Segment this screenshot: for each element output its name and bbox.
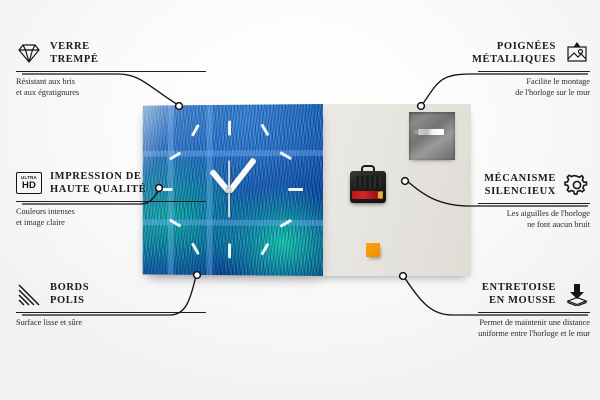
- mechanism-body: [350, 171, 386, 203]
- callout-tempered-glass: VERRE TREMPÉ Résistant aux bris et aux é…: [16, 40, 206, 98]
- callout-title: BORDS POLIS: [50, 281, 89, 307]
- metal-hanger-plate: [409, 112, 455, 160]
- clock-back-panel: [313, 104, 471, 276]
- callout-title: MÉCANISME SILENCIEUX: [484, 172, 556, 198]
- battery: [352, 191, 383, 199]
- callout-foam-spacer: ENTRETOISE EN MOUSSE Permet de maintenir…: [478, 281, 590, 317]
- wall-mounted-picture-frame-icon: [564, 41, 590, 65]
- callout-divider: [16, 201, 206, 202]
- callout-title: POIGNÉES MÉTALLIQUES: [472, 40, 556, 66]
- callout-title-row: ENTRETOISE EN MOUSSE: [478, 281, 590, 307]
- diamond-icon: [16, 41, 42, 65]
- callout-title-row: VERRE TREMPÉ: [16, 40, 206, 66]
- callout-divider: [478, 71, 590, 72]
- gear-icon: [564, 173, 590, 197]
- orange-foam-spacer: [366, 243, 380, 257]
- callout-description: Couleurs intenses et image claire: [16, 206, 206, 228]
- callout-description: Permet de maintenir une distance uniform…: [400, 317, 590, 339]
- callout-description: Les aiguilles de l'horloge ne font aucun…: [400, 208, 590, 230]
- diagonal-lines-icon: [16, 282, 42, 306]
- infographic-canvas: VERRE TREMPÉ Résistant aux bris et aux é…: [0, 0, 600, 400]
- callout-divider: [16, 312, 206, 313]
- hour-marker: [288, 188, 303, 191]
- silent-clock-mechanism: [350, 165, 386, 203]
- callout-metal-handles: POIGNÉES MÉTALLIQUES Facilite le montage…: [478, 40, 590, 76]
- callout-title-row: POIGNÉES MÉTALLIQUES: [478, 40, 590, 66]
- callout-title-row: ultra HD IMPRESSION DE HAUTE QUALITÉ: [16, 170, 206, 196]
- hour-marker: [228, 121, 231, 136]
- ultra-hd-badge-icon: ultra HD: [16, 172, 42, 194]
- callout-title: ENTRETOISE EN MOUSSE: [482, 281, 556, 307]
- callout-title-row: MÉCANISME SILENCIEUX: [478, 172, 590, 198]
- callout-title-row: BORDS POLIS: [16, 281, 206, 307]
- center-pin: [226, 188, 231, 193]
- callout-description: Facilite le montage de l'horloge sur le …: [400, 76, 590, 98]
- callout-title: VERRE TREMPÉ: [50, 40, 99, 66]
- arrow-down-onto-plate-icon: [564, 282, 590, 306]
- mechanism-label: [354, 176, 381, 188]
- callout-description: Surface lisse et sûre: [16, 317, 206, 328]
- callout-title: IMPRESSION DE HAUTE QUALITÉ: [50, 170, 146, 196]
- callout-silent-mechanism: MÉCANISME SILENCIEUX Les aiguilles de l'…: [478, 172, 590, 208]
- hanger-slot: [418, 129, 444, 135]
- callout-divider: [16, 71, 206, 72]
- hour-marker: [228, 243, 231, 258]
- callout-polished-edges: BORDS POLIS Surface lisse et sûre: [16, 281, 206, 328]
- callout-divider: [478, 203, 590, 204]
- callout-description: Résistant aux bris et aux égratignures: [16, 76, 206, 98]
- callout-print-quality: ultra HD IMPRESSION DE HAUTE QUALITÉ Cou…: [16, 170, 206, 228]
- callout-divider: [478, 312, 590, 313]
- badge-hd-label: HD: [22, 181, 36, 191]
